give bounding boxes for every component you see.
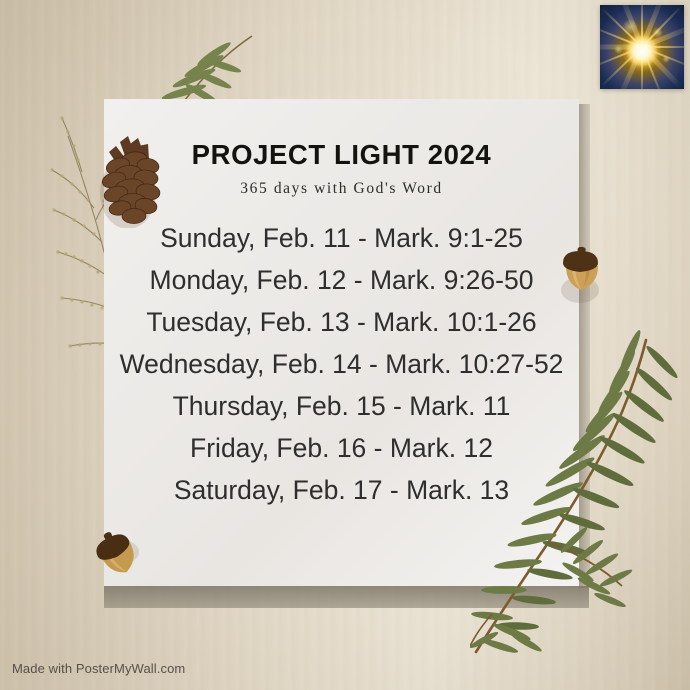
schedule-card: PROJECT LIGHT 2024 365 days with God's W…	[104, 99, 579, 586]
sunburst-logo	[600, 5, 684, 89]
logo-lens-orb	[622, 19, 638, 35]
page-subtitle: 365 days with God's Word	[104, 180, 579, 198]
schedule-row: Saturday, Feb. 17 - Mark. 13	[104, 469, 579, 511]
logo-lens-orb	[614, 45, 623, 54]
schedule-row: Tuesday, Feb. 13 - Mark. 10:1-26	[104, 301, 579, 343]
watermark-label: Made with PosterMyWall.com	[12, 661, 185, 676]
card-shadow-bottom	[104, 586, 589, 608]
poster-canvas: PROJECT LIGHT 2024 365 days with God's W…	[0, 0, 690, 690]
schedule-row: Sunday, Feb. 11 - Mark. 9:1-25	[104, 217, 579, 259]
schedule-row: Thursday, Feb. 15 - Mark. 11	[104, 385, 579, 427]
card-shadow-right	[579, 104, 590, 588]
schedule-list: Sunday, Feb. 11 - Mark. 9:1-25 Monday, F…	[104, 217, 579, 511]
logo-lens-orb	[652, 27, 663, 38]
logo-lens-orb	[662, 55, 670, 63]
page-title: PROJECT LIGHT 2024	[104, 139, 579, 171]
schedule-row: Monday, Feb. 12 - Mark. 9:26-50	[104, 259, 579, 301]
schedule-row: Wednesday, Feb. 14 - Mark. 10:27-52	[104, 343, 579, 385]
logo-sun-core	[627, 36, 657, 66]
schedule-row: Friday, Feb. 16 - Mark. 12	[104, 427, 579, 469]
